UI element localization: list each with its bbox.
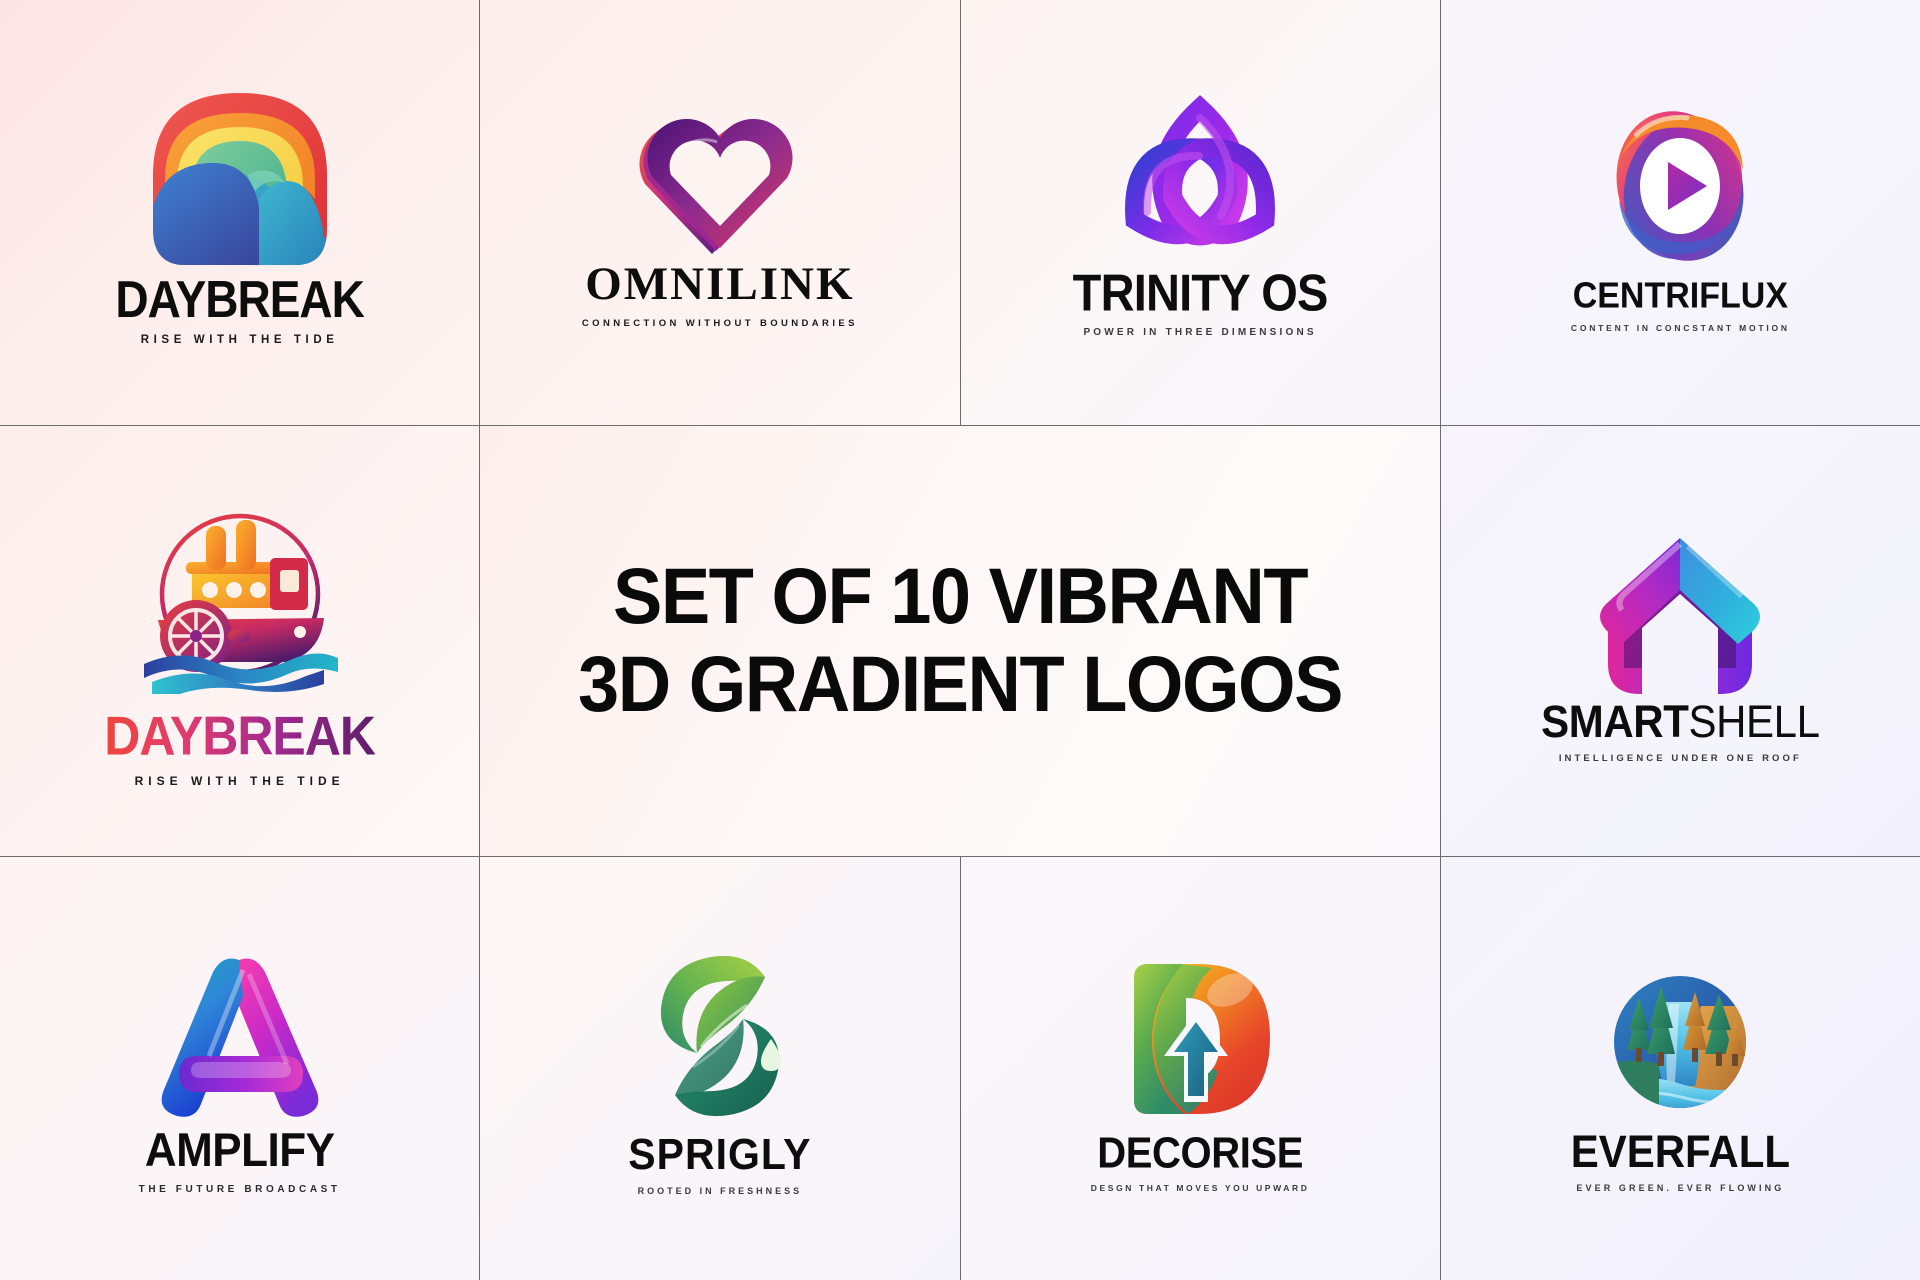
- logo-wordmark: DAYBREAK: [115, 273, 363, 325]
- logo-tagline: THE FUTURE BROADCAST: [139, 1185, 341, 1195]
- house-ribbon-icon: [1582, 518, 1778, 701]
- logo-sheet: DAYBREAK RISE WITH THE TIDE: [0, 0, 1920, 1280]
- letter-d-arrow-icon: [1112, 946, 1288, 1133]
- logo-wordmark: SPRIGLY: [628, 1133, 811, 1176]
- logo-card-amplify[interactable]: AMPLIFY THE FUTURE BROADCAST: [0, 857, 479, 1280]
- logo-wordmark: AMPLIFY: [145, 1127, 335, 1175]
- logo-wordmark: EVERFALL: [1571, 1129, 1790, 1174]
- logo-card-daybreak-wave[interactable]: DAYBREAK RISE WITH THE TIDE: [0, 0, 479, 425]
- logo-wordmark-bold: SMART: [1541, 696, 1688, 747]
- letter-a-ribbon-icon: [151, 944, 329, 1129]
- logo-wordmark: DECORISE: [1097, 1131, 1303, 1175]
- logo-card-smartshell[interactable]: SMARTSHELL INTELLIGENCE UNDER ONE ROOF: [1441, 426, 1920, 856]
- logo-card-daybreak-steamboat[interactable]: DAYBREAK RISE WITH THE TIDE: [0, 426, 479, 856]
- logo-card-omnilink[interactable]: OMNILINK CONNECTION WITHOUT BOUNDARIES: [480, 0, 959, 425]
- logo-card-everfall[interactable]: EVERFALL EVER GREEN. EVER FLOWING: [1441, 857, 1920, 1280]
- play-swirl-icon: [1591, 92, 1769, 279]
- letter-s-leaf-icon: [635, 943, 805, 1134]
- logo-tagline: ROOTED IN FRESHNESS: [638, 1187, 803, 1196]
- logo-tagline: DESGN THAT MOVES YOU UPWARD: [1091, 1184, 1310, 1193]
- logo-tagline: EVER GREEN. EVER FLOWING: [1576, 1184, 1784, 1193]
- logo-tagline: RISE WITH THE TIDE: [135, 775, 345, 787]
- logo-tagline: CONTENT IN CONCSTANT MOTION: [1571, 324, 1790, 333]
- wave-sunrise-icon: [147, 79, 333, 270]
- banner-title-line2: 3D GRADIENT LOGOS: [578, 641, 1342, 729]
- forest-waterfall-icon: [1585, 946, 1775, 1131]
- logo-wordmark: CENTRIFLUX: [1573, 278, 1788, 314]
- logo-wordmark: DAYBREAK: [104, 708, 375, 763]
- logo-card-trinity-os[interactable]: TRINITY OS POWER IN THREE DIMENSIONS: [961, 0, 1440, 425]
- logo-tagline: INTELLIGENCE UNDER ONE ROOF: [1559, 754, 1802, 764]
- poster-banner: SET OF 10 VIBRANT 3D GRADIENT LOGOS: [480, 426, 1440, 856]
- logo-tagline: RISE WITH THE TIDE: [141, 335, 339, 347]
- banner-title-line1: SET OF 10 VIBRANT: [613, 552, 1307, 640]
- logo-card-decorise[interactable]: DECORISE DESGN THAT MOVES YOU UPWARD: [961, 857, 1440, 1280]
- paddle-steamboat-icon: [110, 496, 370, 711]
- heart-outline-icon: [625, 96, 815, 261]
- logo-wordmark: OMNILINK: [585, 261, 854, 308]
- triquetra-knot-icon: [1109, 88, 1291, 269]
- logo-tagline: CONNECTION WITHOUT BOUNDARIES: [582, 319, 858, 329]
- banner-title: SET OF 10 VIBRANT 3D GRADIENT LOGOS: [578, 553, 1342, 729]
- logo-wordmark-light: SHELL: [1689, 696, 1820, 747]
- logo-card-sprigly[interactable]: SPRIGLY ROOTED IN FRESHNESS: [480, 857, 959, 1280]
- logo-wordmark: SMARTSHELL: [1541, 700, 1819, 745]
- logo-card-centriflux[interactable]: CENTRIFLUX CONTENT IN CONCSTANT MOTION: [1441, 0, 1920, 425]
- logo-tagline: POWER IN THREE DIMENSIONS: [1083, 328, 1316, 338]
- logo-wordmark: TRINITY OS: [1073, 266, 1328, 318]
